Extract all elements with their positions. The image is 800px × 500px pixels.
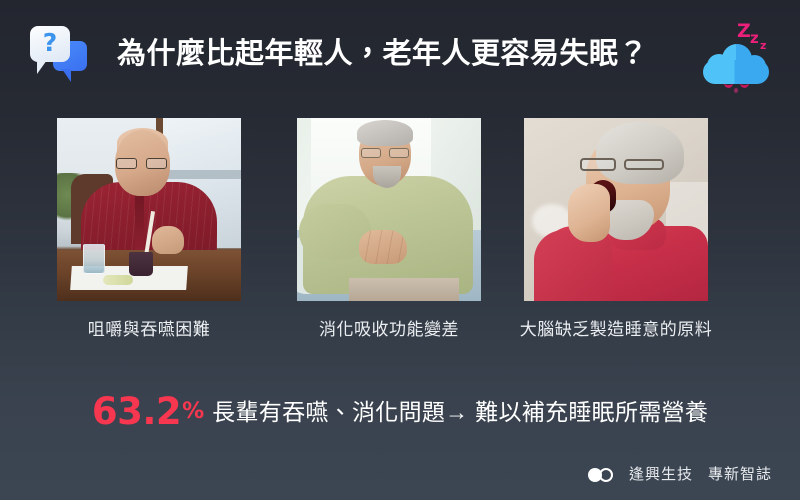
caption-2: 消化吸收功能變差 (287, 318, 491, 342)
zzz-glyph-small: z (760, 40, 766, 51)
statistic-number: 63.2 (92, 390, 181, 434)
two-circles-logo-icon (588, 467, 620, 483)
photo-elderly-man-holding-stomach (297, 118, 481, 301)
header: ? 為什麼比起年輕人，老年人更容易失眠？ Z z z (0, 0, 800, 108)
cloud-eye-left (724, 76, 733, 88)
statistic-percent-sign: % (182, 390, 204, 434)
caption-3: 大腦缺乏製造睡意的原料 (516, 318, 716, 342)
logo-circle-outline (599, 468, 613, 482)
cloud-mouth (734, 88, 738, 93)
photo-card-2 (297, 118, 481, 301)
photo-card-3 (524, 118, 708, 301)
speech-bubble-front: ? (30, 26, 70, 62)
photo-card-row (0, 118, 800, 308)
footer: 逢興生技 專新智誌 (588, 462, 772, 488)
question-mark-glyph: ? (30, 26, 70, 62)
caption-row: 咀嚼與吞嚥困難 消化吸收功能變差 大腦缺乏製造睡意的原料 (0, 318, 800, 348)
photo-elderly-man-at-table (57, 118, 241, 301)
caption-1: 咀嚼與吞嚥困難 (57, 318, 241, 342)
page-title: 為什麼比起年輕人，老年人更容易失眠？ (117, 34, 677, 74)
statistic-line: 63.2%長輩有吞嚥、消化問題→ 難以補充睡眠所需營養 (0, 390, 800, 434)
sleeping-cloud-icon: Z z z (697, 22, 775, 92)
footer-brand-name: 逢興生技 (629, 465, 693, 485)
infographic-canvas: ? 為什麼比起年輕人，老年人更容易失眠？ Z z z (0, 0, 800, 500)
footer-sub-brand: 專新智誌 (708, 465, 772, 485)
cloud-eye-right (740, 76, 749, 88)
zzz-glyph-medium: z (750, 31, 759, 46)
statistic-description: 長輩有吞嚥、消化問題→ 難以補充睡眠所需營養 (212, 390, 708, 434)
photo-elderly-man-yawning (524, 118, 708, 301)
cloud-base (703, 60, 769, 84)
question-speech-bubble-icon: ? (27, 24, 89, 86)
zzz-glyph-large: Z (737, 22, 751, 41)
photo-card-1 (57, 118, 241, 301)
